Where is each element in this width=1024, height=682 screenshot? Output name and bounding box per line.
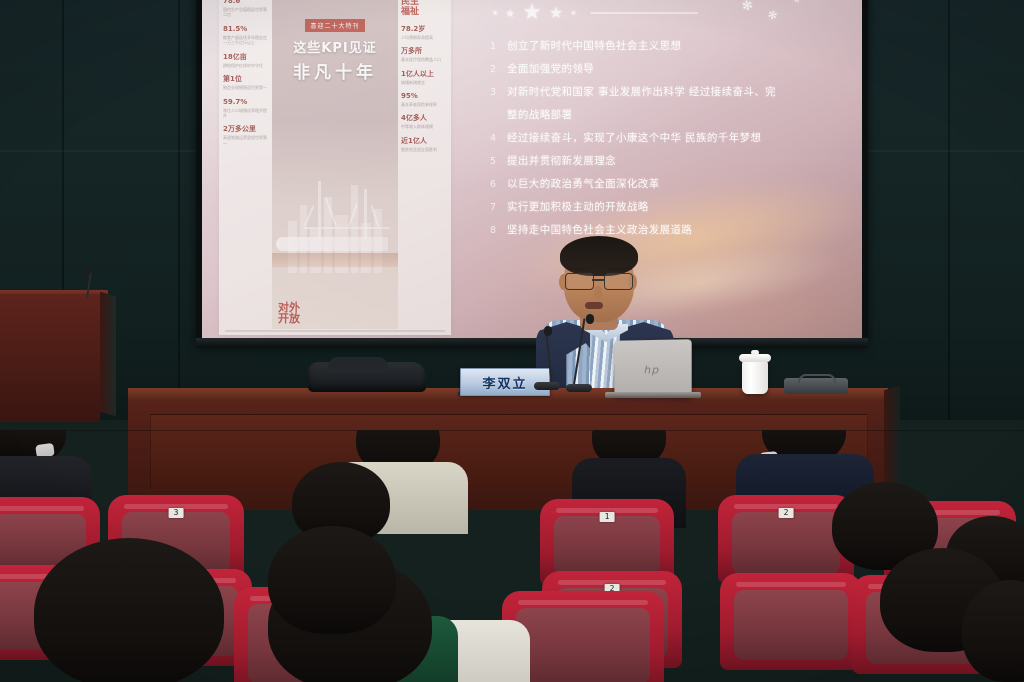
poster-stat: 第1位制造业规模稳居世界第一	[223, 75, 269, 90]
star-icon: ★	[549, 5, 563, 21]
speaker-nose	[594, 286, 602, 299]
slide-star-decor: ★ ★ ★ ★ ★	[492, 2, 698, 24]
slide-list-item: 3 对新时代党和国家 事业发展作出科学 经过接续奋斗、完	[490, 84, 840, 101]
poster-stat: 1亿人以上城镇新增就业	[401, 70, 447, 85]
lens	[565, 273, 594, 290]
laptop-base	[605, 392, 701, 398]
laptop: hp	[614, 339, 691, 397]
poster-stat: 95%基本养老保险参保率	[401, 92, 447, 107]
speaker-mouth	[585, 302, 603, 309]
poster-right-heading: 民生 福祉	[401, 0, 447, 18]
poster-stat: 近1亿人脱贫攻坚战全面胜利	[401, 137, 447, 152]
hp-logo-icon: hp	[644, 364, 660, 377]
slide-list-item: 6 以巨大的政治勇气全面深化改革	[490, 176, 840, 193]
star-icon: ★	[570, 10, 576, 17]
microphone-base	[534, 382, 560, 390]
poster-train-illustration	[276, 237, 388, 251]
lectern-side	[100, 292, 116, 417]
thermos-cup	[742, 360, 768, 394]
thermos-cup-lid	[739, 354, 771, 362]
poster-title: 喜迎二十大特刊 这些KPI见证 非凡十年	[272, 13, 398, 83]
poster-footer-heading: 对外 开放	[278, 302, 300, 325]
poster-stat: 18亿亩耕地保护红线牢牢守住	[223, 53, 269, 68]
lectern	[0, 294, 100, 422]
seat-number: 3	[169, 508, 184, 518]
dove-icon: ✻	[741, 0, 754, 14]
poster-rail-illustration	[272, 253, 398, 267]
wall-seam	[178, 0, 180, 420]
poster-stat: 78.2岁人均预期寿命提高	[401, 25, 447, 40]
slide-infographic-poster: 78.6国内生产总值稳居世界第二位 81.5%粮食产量连续多年稳定在一万三千亿斤…	[219, 0, 451, 335]
slide-bullet-list: 1 创立了新时代中国特色社会主义思想 2 全面加强党的领导 3 对新时代党和国家…	[490, 38, 840, 245]
microphone-icon	[544, 326, 552, 336]
poster-kicker: 喜迎二十大特刊	[305, 19, 364, 32]
slide-list-item: 7 实行更加积极主动的开放战略	[490, 199, 840, 216]
slide-list-item: 2 全面加强党的领导	[490, 61, 840, 78]
speaker-eyebrow	[608, 267, 632, 270]
star-icon: ★	[505, 8, 515, 19]
poster-hero: 喜迎二十大特刊 这些KPI见证 非凡十年	[272, 0, 398, 329]
poster-divider	[225, 330, 445, 332]
poster-stat: 万多所基本医疗保险覆盖人口	[401, 47, 447, 62]
thermos-cup-knob	[751, 350, 759, 355]
poster-stat: 4亿多人中等收入群体规模	[401, 114, 447, 129]
equipment-case-handle	[798, 374, 836, 383]
poster-right-stats: 民生 福祉 78.2岁人均预期寿命提高 万多所基本医疗保险覆盖人口 1亿人以上城…	[401, 0, 447, 329]
lecture-hall-photo: ★ ★ ★ ★ ★ ✻ ✻ ✻ 78.6国内生产总值稳居世界第二位 81.5%粮…	[0, 0, 1024, 682]
seat-number: 1	[600, 512, 615, 522]
audience-seating: 3 1 2 2 4	[0, 430, 1024, 682]
slide-list-item: 4 经过接续奋斗，实现了小康这个中华 民族的千年梦想	[490, 130, 840, 147]
lens-bridge	[592, 279, 604, 281]
slide-list-item: 1 创立了新时代中国特色社会主义思想	[490, 38, 840, 55]
black-bag	[308, 362, 426, 392]
dove-icon: ✻	[767, 9, 779, 22]
poster-stat: 78.6国内生产总值稳居世界第二位	[223, 0, 269, 18]
poster-stat: 2万多公里高速铁路运营里程世界第一	[223, 125, 269, 146]
audience-head	[34, 538, 224, 682]
seat[interactable]	[508, 598, 658, 682]
poster-stat: 59.7%常住人口城镇化率稳步提升	[223, 98, 269, 119]
dove-icon: ✻	[793, 0, 803, 6]
nameplate-text: 李双立	[482, 373, 527, 392]
slide-list-item: 5 提出并贯彻新发展理念	[490, 153, 840, 170]
star-icon: ★	[522, 2, 542, 24]
poster-skyline-illustration	[272, 153, 398, 273]
floor-line	[0, 430, 1024, 431]
seat-number: 2	[779, 508, 794, 518]
audience-head	[268, 526, 396, 634]
poster-left-stats: 78.6国内生产总值稳居世界第二位 81.5%粮食产量连续多年稳定在一万三千亿斤…	[223, 0, 269, 329]
seat[interactable]	[726, 580, 856, 666]
poster-stat: 81.5%粮食产量连续多年稳定在一万三千亿斤以上	[223, 25, 269, 46]
seat[interactable]: 2	[724, 502, 848, 580]
poster-footer: 对外 开放	[272, 275, 398, 329]
microphone-icon	[586, 314, 594, 324]
wall-seam	[948, 0, 950, 420]
star-icon: ★	[492, 10, 498, 17]
microphone-icon	[84, 268, 91, 275]
slide-rule	[590, 12, 698, 14]
lens	[604, 273, 633, 290]
speaker-hair	[560, 236, 638, 276]
speaker-eyebrow	[567, 267, 591, 270]
slide-list-item-continued: 整的战略部署	[490, 107, 840, 124]
poster-bridge-illustration	[304, 179, 390, 239]
microphone-base	[566, 384, 592, 392]
poster-headline-1: 这些KPI见证	[272, 37, 398, 56]
poster-headline-2: 非凡十年	[272, 58, 398, 83]
